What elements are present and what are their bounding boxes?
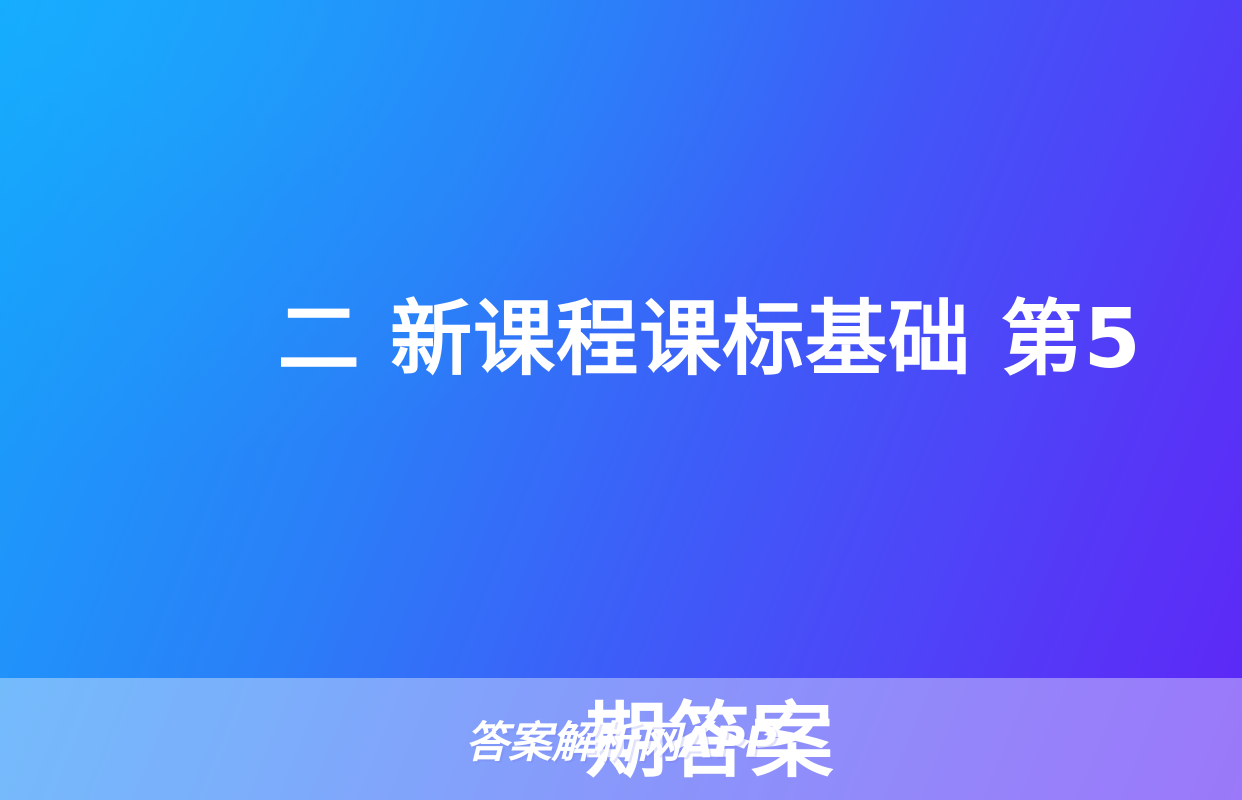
poster-title-block: 2025-2026 学英语报 高 二 新课程课标基础 第5 期答案 [0,0,1242,678]
title-line-1: 2025-2026 学英语报 高 [77,0,1166,139]
footer-watermark-band: 答案解析网APP [0,678,1242,800]
title-year-range: 2025-2026 [247,0,698,3]
poster-canvas: 2025-2026 学英语报 高 二 新课程课标基础 第5 期答案 答案解析网A… [0,0,1242,800]
title-line-2-text: 二 新课程课标基础 第5 [278,292,1142,387]
title-line-2: 二 新课程课标基础 第5 [100,139,1141,541]
app-brand-label: 答案解析网APP [465,708,776,770]
